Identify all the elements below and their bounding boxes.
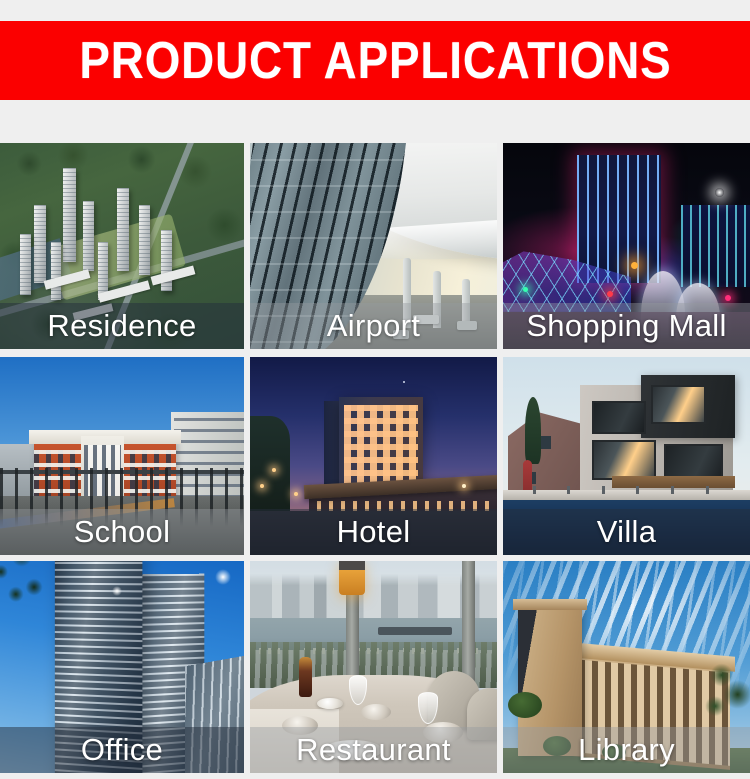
tile-caption: School [0,509,244,555]
application-tile-restaurant[interactable]: Restaurant [250,561,497,773]
tile-caption: Hotel [250,509,497,555]
page-title: PRODUCT APPLICATIONS [79,31,671,91]
tile-label-hotel: Hotel [337,516,411,547]
tile-caption: Restaurant [250,727,497,773]
page-header-banner: PRODUCT APPLICATIONS [0,21,750,100]
tile-caption: Shopping Mall [503,303,750,349]
tile-caption: Library [503,727,750,773]
tile-label-airport: Airport [327,310,420,341]
application-tile-school[interactable]: School [0,357,244,555]
tile-caption: Airport [250,303,497,349]
tile-label-shopping-mall: Shopping Mall [526,310,726,341]
tile-label-library: Library [578,734,675,765]
application-tile-shopping-mall[interactable]: Shopping Mall [503,143,750,349]
application-tile-hotel[interactable]: Hotel [250,357,497,555]
application-tile-office[interactable]: Office [0,561,244,773]
tile-caption: Office [0,727,244,773]
tile-caption: Residence [0,303,244,349]
tile-label-office: Office [81,734,163,765]
tile-label-school: School [74,516,171,547]
application-tile-airport[interactable]: Airport [250,143,497,349]
application-tile-residence[interactable]: Residence [0,143,244,349]
application-tile-villa[interactable]: Villa [503,357,750,555]
tile-label-villa: Villa [597,516,657,547]
application-tile-library[interactable]: Library [503,561,750,773]
tile-caption: Villa [503,509,750,555]
tile-label-residence: Residence [47,310,196,341]
tile-label-restaurant: Restaurant [296,734,451,765]
applications-grid: Residence Airport [0,143,750,779]
